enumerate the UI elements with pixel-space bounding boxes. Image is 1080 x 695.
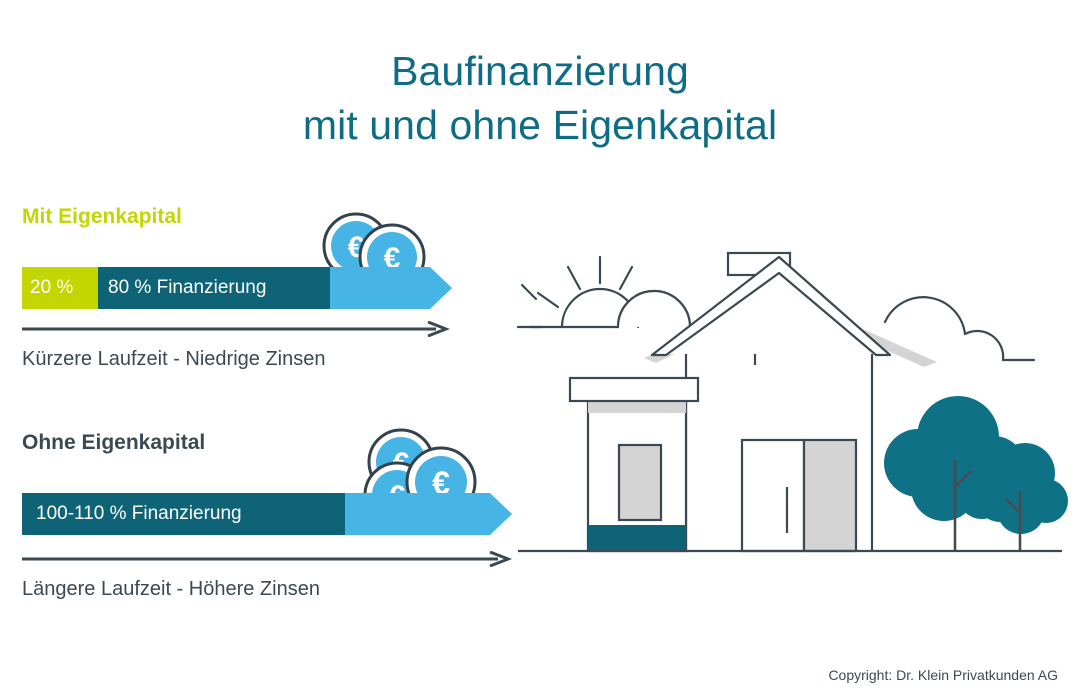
title-line-1: Baufinanzierung — [0, 44, 1080, 98]
annex-base — [588, 525, 686, 551]
bar-label-finanzierung: 80 % Finanzierung — [108, 278, 266, 297]
caption-mit-eigenkapital: Kürzere Laufzeit - Niedrige Zinsen — [22, 348, 325, 371]
bar-arrow-tip — [345, 493, 512, 535]
sun-ray — [538, 293, 558, 307]
house-illustration — [500, 215, 1070, 575]
axis-arrow-kurz — [22, 321, 450, 342]
block-heading-ohne-eigenkapital: Ohne Eigenkapital — [22, 431, 205, 455]
bar-label-eigenkapital: 20 % — [30, 278, 73, 297]
annex — [570, 378, 698, 551]
sun-ray — [620, 267, 632, 289]
door-side-panel — [804, 440, 856, 551]
arrow-right-icon — [22, 321, 450, 337]
cloud-left-icon — [530, 291, 690, 327]
cloud-hump-small — [965, 331, 1003, 360]
annex-window — [619, 445, 661, 520]
annex-roof-shadow — [588, 401, 686, 413]
copyright-notice: Copyright: Dr. Klein Privatkunden AG — [828, 667, 1058, 683]
bar-arrow-tip — [330, 267, 452, 309]
infographic-canvas: Baufinanzierung mit und ohne Eigenkapita… — [0, 0, 1080, 695]
cloud-fill — [618, 291, 690, 327]
annex-roof-slab — [570, 378, 698, 401]
door-panel — [742, 440, 804, 551]
caption-ohne-eigenkapital: Längere Laufzeit - Höhere Zinsen — [22, 578, 320, 601]
sun-ray — [522, 285, 536, 299]
bar-ohne-eigenkapital: 100-110 % Finanzierung — [22, 493, 512, 535]
bar-label-finanzierung: 100-110 % Finanzierung — [36, 504, 242, 523]
house-scene-svg — [500, 215, 1070, 570]
page-title: Baufinanzierung mit und ohne Eigenkapita… — [0, 44, 1080, 152]
gable-fill — [661, 270, 881, 354]
cloud-hump-large — [885, 297, 965, 334]
bar-mit-eigenkapital: 20 % 80 % Finanzierung — [22, 267, 452, 309]
arrow-right-icon — [22, 551, 512, 567]
axis-arrow-lang — [22, 551, 512, 572]
block-heading-mit-eigenkapital: Mit Eigenkapital — [22, 205, 182, 229]
title-line-2: mit und ohne Eigenkapital — [0, 98, 1080, 152]
front-door — [742, 440, 856, 551]
sun-ray — [568, 267, 580, 289]
